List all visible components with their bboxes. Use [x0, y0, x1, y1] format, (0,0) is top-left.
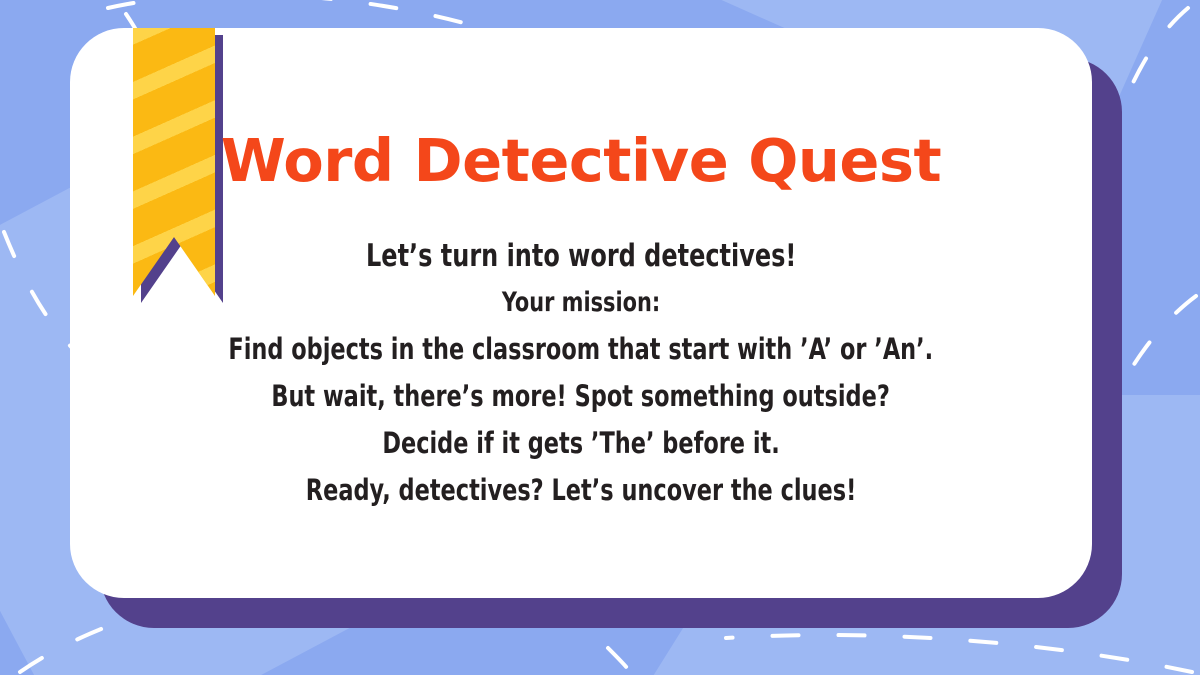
mission-line-2: Your mission: [502, 280, 660, 326]
slide-canvas: Word Detective Quest Let’s turn into wor… [0, 0, 1200, 675]
mission-line-1: Let’s turn into word detectives! [366, 232, 796, 280]
mission-text-block: Let’s turn into word detectives! Your mi… [70, 232, 1092, 514]
mission-line-4: But wait, there’s more! Spot something o… [272, 373, 891, 420]
card-content: Word Detective Quest Let’s turn into wor… [70, 28, 1092, 598]
mission-line-6: Ready, detectives? Let’s uncover the clu… [306, 467, 857, 514]
mission-line-3: Find objects in the classroom that start… [229, 326, 934, 373]
mission-line-5: Decide if it gets ’The’ before it. [382, 420, 779, 467]
page-title: Word Detective Quest [221, 131, 942, 190]
dashed-arc-bottom-center [608, 648, 632, 674]
